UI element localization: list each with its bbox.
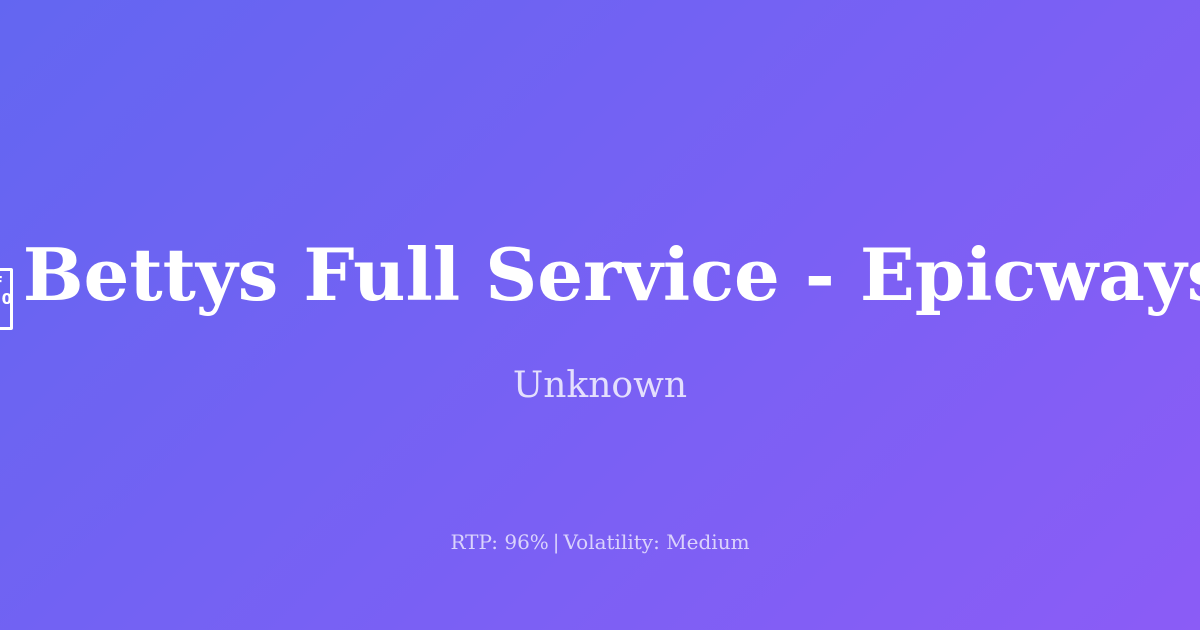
meta-separator: | (549, 530, 564, 554)
page-title: 1F3B0Bettys Full Service - Epicways (0, 232, 1200, 332)
rtp-value: 96% (504, 530, 548, 554)
volatility-value: Medium (666, 530, 749, 554)
tofu-codepoint-row-bottom: 3B0 (0, 291, 8, 308)
page-subtitle: Unknown (0, 362, 1200, 410)
tofu-codepoint-row-top: 1F (0, 274, 8, 291)
slot-machine-icon: 1F3B0 (0, 230, 13, 330)
missing-glyph-box: 1F3B0 (0, 268, 13, 330)
page-title-text: Bettys Full Service - Epicways (23, 232, 1200, 317)
volatility-label: Volatility: (564, 530, 660, 554)
game-meta-line: RTP: 96%|Volatility: Medium (0, 528, 1200, 556)
og-preview-card: 1F3B0Bettys Full Service - Epicways Unkn… (0, 0, 1200, 630)
rtp-label: RTP: (450, 530, 498, 554)
